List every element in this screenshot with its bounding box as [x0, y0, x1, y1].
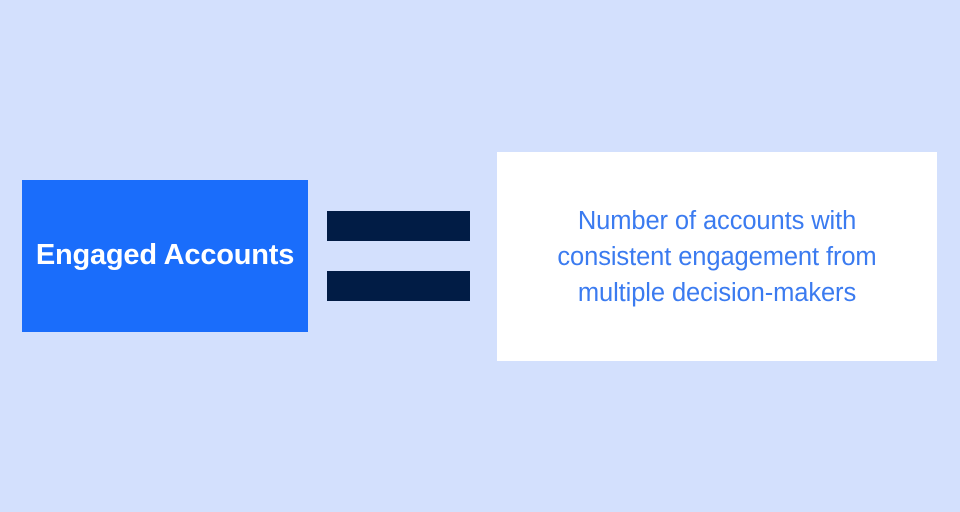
equals-sign-bar-bottom	[327, 271, 470, 301]
definition-line-1: Number of accounts with	[557, 203, 876, 239]
definition-line-2: consistent engagement from	[557, 239, 876, 275]
equals-sign-icon	[327, 211, 470, 301]
definition-card: Number of accounts with consistent engag…	[497, 152, 937, 361]
definition-text: Number of accounts with consistent engag…	[557, 203, 876, 311]
term-card: Engaged Accounts	[22, 180, 308, 332]
term-label: Engaged Accounts	[36, 239, 294, 272]
definition-graphic-canvas: Engaged Accounts Number of accounts with…	[0, 0, 960, 512]
definition-line-3: multiple decision-makers	[557, 275, 876, 311]
equals-sign-bar-top	[327, 211, 470, 241]
